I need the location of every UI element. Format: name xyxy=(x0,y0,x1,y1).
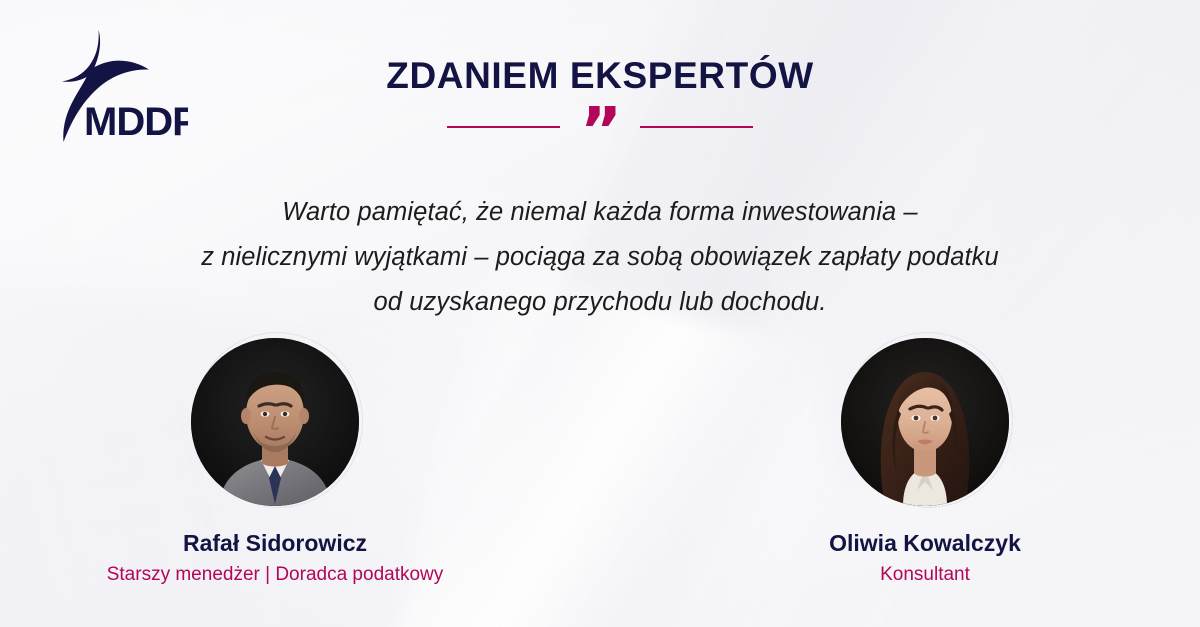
divider-rule-right xyxy=(640,126,753,128)
avatar-photo-male xyxy=(191,338,359,506)
decorative-divider: ” xyxy=(0,126,1200,128)
divider-rule-left xyxy=(447,126,560,128)
avatar-photo-female xyxy=(841,338,1009,506)
expert-role: Starszy menedżer | Doradca podatkowy xyxy=(107,564,444,586)
expert-role: Konsultant xyxy=(880,564,970,586)
quote-line: z nielicznymi wyjątkami – pociąga za sob… xyxy=(0,235,1200,280)
expert-name: Rafał Sidorowicz xyxy=(183,530,367,557)
avatar xyxy=(191,338,359,506)
svg-text:MDDP: MDDP xyxy=(84,100,188,144)
expert-card: Oliwia Kowalczyk Konsultant xyxy=(760,338,1090,586)
quote-line: Warto pamiętać, że niemal każda forma in… xyxy=(0,190,1200,235)
expert-name: Oliwia Kowalczyk xyxy=(829,530,1021,557)
quote-line: od uzyskanego przychodu lub dochodu. xyxy=(0,280,1200,325)
experts-list: Rafał Sidorowicz Starszy menedżer | Dora… xyxy=(0,338,1200,586)
expert-quote-card: MDDP ZDANIEM EKSPERTÓW ” Warto pamiętać,… xyxy=(0,0,1200,627)
expert-card: Rafał Sidorowicz Starszy menedżer | Dora… xyxy=(110,338,440,586)
avatar xyxy=(841,338,1009,506)
page-title: ZDANIEM EKSPERTÓW xyxy=(0,55,1200,97)
quote-text: Warto pamiętać, że niemal każda forma in… xyxy=(0,190,1200,325)
